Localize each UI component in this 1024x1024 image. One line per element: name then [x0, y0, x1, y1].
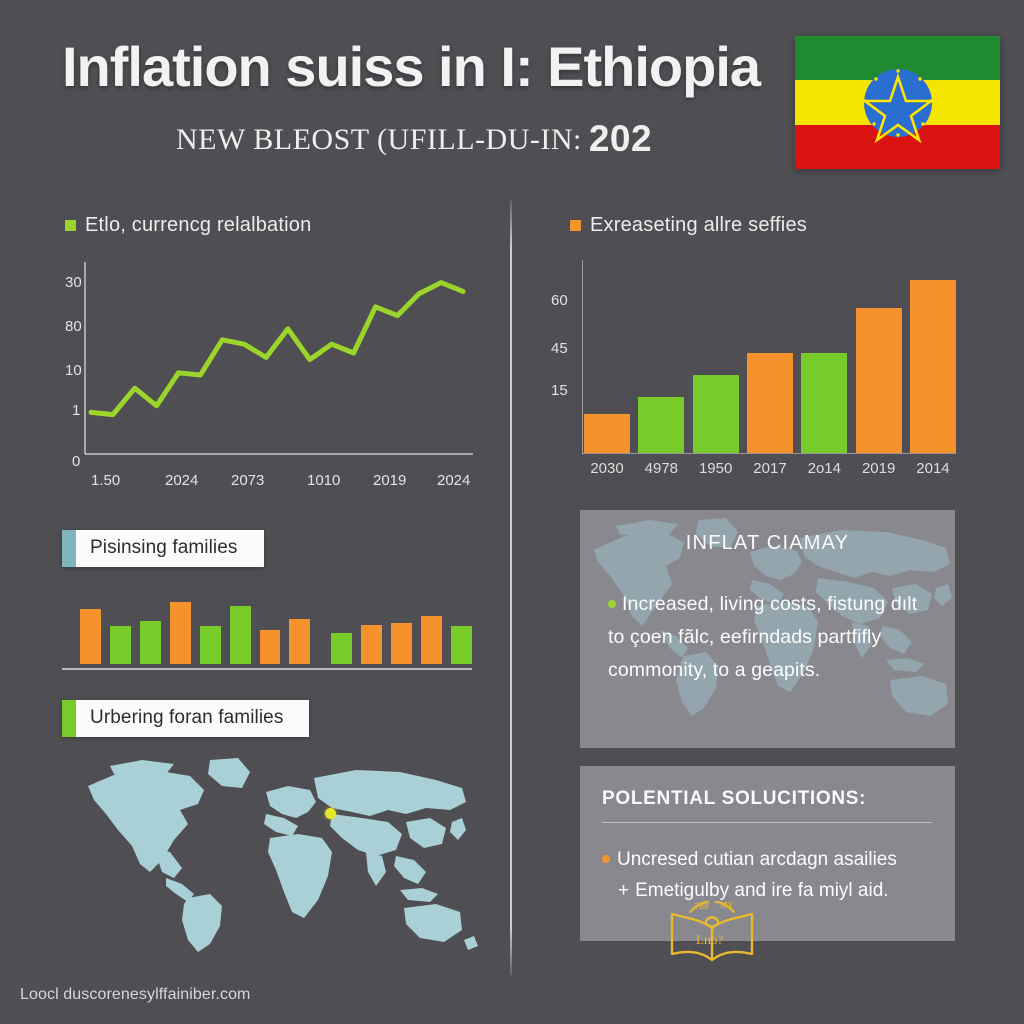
chip-marker-green: [62, 700, 76, 737]
book-icon-inner-text: Lнo?: [696, 932, 723, 947]
solutions-line-2: +Emetigulby and ire fa miyl aid.: [602, 875, 942, 906]
line-xtick-3: 1010: [307, 472, 340, 489]
bar-chart-x-label: 2o14: [801, 460, 847, 477]
solutions-panel-body: Uncresed cutian arcdagn asailies +Emetig…: [602, 844, 942, 906]
bar-chart-x-label: 2014: [910, 460, 956, 477]
solutions-panel: POLENTIAL SOLUCITIONS: Uncresed cutian a…: [580, 766, 955, 941]
line-chart-plot: [83, 258, 475, 458]
bar-chart-bar: [747, 353, 793, 453]
line-chart-legend: Etlo, currencg relalbation: [65, 214, 311, 237]
mini-bar-chart-bars: [80, 598, 472, 664]
solutions-panel-title: POLENTIAL SOLUCITIONS:: [602, 788, 866, 810]
map-marker-dot: [325, 808, 336, 819]
infographic-root: Inflation suiss in I: Ethiopia NEW BLEOS…: [0, 0, 1024, 1024]
line-chart-legend-label: Etlo, currencg relalbation: [85, 214, 311, 237]
impact-panel-text: Increased, living costs, fistung dılt to…: [608, 593, 917, 681]
map-section: Urbering foran families: [62, 700, 492, 970]
flag-emblem-star-icon: [856, 61, 940, 145]
bar-chart-x-label: 1950: [693, 460, 739, 477]
bar-chart-x-label: 4978: [638, 460, 684, 477]
world-map-icon: [70, 752, 490, 952]
bar-chart-bar: [693, 375, 739, 453]
mini-bar: [421, 616, 442, 664]
bullet-dot-orange-icon: [602, 855, 610, 863]
mini-bar: [260, 630, 281, 664]
vertical-divider: [510, 200, 512, 975]
line-chart: Etlo, currencg relalbation 30 80 10 1 0 …: [55, 210, 485, 500]
impact-panel-body: Increased, living costs, fistung dılt to…: [608, 588, 926, 687]
mini-bar: [80, 609, 101, 664]
bar-chart-x-labels: 20304978195020172o1420192014: [584, 460, 956, 477]
horizontal-divider: [62, 668, 472, 670]
subtitle-text: NEW BLEOST (UFILL-DU-IN:: [176, 123, 582, 156]
bullet-dot-green-icon: [608, 600, 616, 608]
mini-bar: [331, 633, 352, 664]
urbering-families-label: Urbering foran families: [76, 700, 309, 737]
footer-url: Loocl duscorenesylffainiber.com: [20, 986, 251, 1004]
bar-chart: Exreaseting allre seffies 60 45 15 20304…: [548, 210, 978, 500]
mini-bar: [391, 623, 412, 664]
mini-bar-section: Pisinsing families: [62, 530, 482, 665]
plus-sign-icon: +: [618, 880, 629, 901]
bar-ytick-2: 15: [551, 382, 568, 399]
mini-bar: [170, 602, 191, 664]
mini-bar: [361, 625, 382, 664]
bar-chart-x-label: 2017: [747, 460, 793, 477]
subtitle-year: 202: [589, 118, 652, 159]
line-xtick-1: 2024: [165, 472, 198, 489]
page-subtitle: NEW BLEOST (UFILL-DU-IN:202: [176, 118, 652, 160]
bar-chart-x-axis: [582, 453, 956, 454]
line-xtick-5: 2024: [437, 472, 470, 489]
bar-chart-bar: [584, 414, 630, 453]
bar-chart-plot: [584, 258, 956, 453]
legend-swatch-orange: [570, 220, 581, 231]
bar-chart-bar: [638, 397, 684, 453]
open-book-icon: ?88 MY Lнo?: [664, 900, 760, 966]
solutions-line-1: Uncresed cutian arcdagn asailies: [602, 844, 942, 875]
impact-panel: INFLAT CIAMAY Increased, living costs, f…: [580, 510, 955, 748]
bar-ytick-1: 45: [551, 340, 568, 357]
bar-chart-bars: [584, 258, 956, 453]
solutions-panel-rule: [602, 822, 932, 823]
book-icon-top-text-2: MY: [720, 900, 734, 910]
legend-swatch-green: [65, 220, 76, 231]
pisinsing-families-label: Pisinsing families: [76, 530, 264, 567]
pisinsing-families-chip[interactable]: Pisinsing families: [62, 530, 264, 567]
chip-marker-teal: [62, 530, 76, 567]
line-ytick-0: 30: [65, 274, 82, 291]
bar-chart-x-label: 2019: [856, 460, 902, 477]
bar-chart-legend: Exreaseting allre seffies: [570, 214, 807, 237]
line-ytick-1: 80: [65, 318, 82, 335]
line-ytick-3: 1: [72, 402, 80, 419]
line-ytick-4: 0: [72, 453, 80, 470]
mini-bar: [230, 606, 251, 664]
mini-bar: [289, 619, 310, 664]
ethiopia-flag-icon: [795, 36, 1000, 169]
book-icon-top-text: ?88: [694, 901, 709, 911]
urbering-families-chip[interactable]: Urbering foran families: [62, 700, 309, 737]
mini-bar: [110, 626, 131, 664]
bar-chart-bar: [856, 308, 902, 453]
bar-chart-x-label: 2030: [584, 460, 630, 477]
solutions-text-2: Emetigulby and ire fa miyl aid.: [635, 880, 888, 901]
line-ytick-2: 10: [65, 362, 82, 379]
mini-bar: [140, 621, 161, 664]
bar-chart-bar: [801, 353, 847, 453]
mini-bar: [200, 626, 221, 664]
bar-chart-bar: [910, 280, 956, 453]
line-series-path: [91, 283, 463, 415]
mini-bar: [451, 626, 472, 664]
header: Inflation suiss in I: Ethiopia NEW BLEOS…: [0, 0, 1024, 190]
solutions-text-1: Uncresed cutian arcdagn asailies: [617, 849, 897, 870]
bar-chart-legend-label: Exreaseting allre seffies: [590, 214, 807, 237]
line-xtick-2: 2073: [231, 472, 264, 489]
page-title: Inflation suiss in I: Ethiopia: [62, 34, 760, 99]
bar-chart-y-axis: [582, 260, 583, 454]
line-xtick-4: 2019: [373, 472, 406, 489]
line-xtick-0: 1.50: [91, 472, 120, 489]
impact-panel-title: INFLAT CIAMAY: [580, 532, 955, 555]
bar-ytick-0: 60: [551, 292, 568, 309]
